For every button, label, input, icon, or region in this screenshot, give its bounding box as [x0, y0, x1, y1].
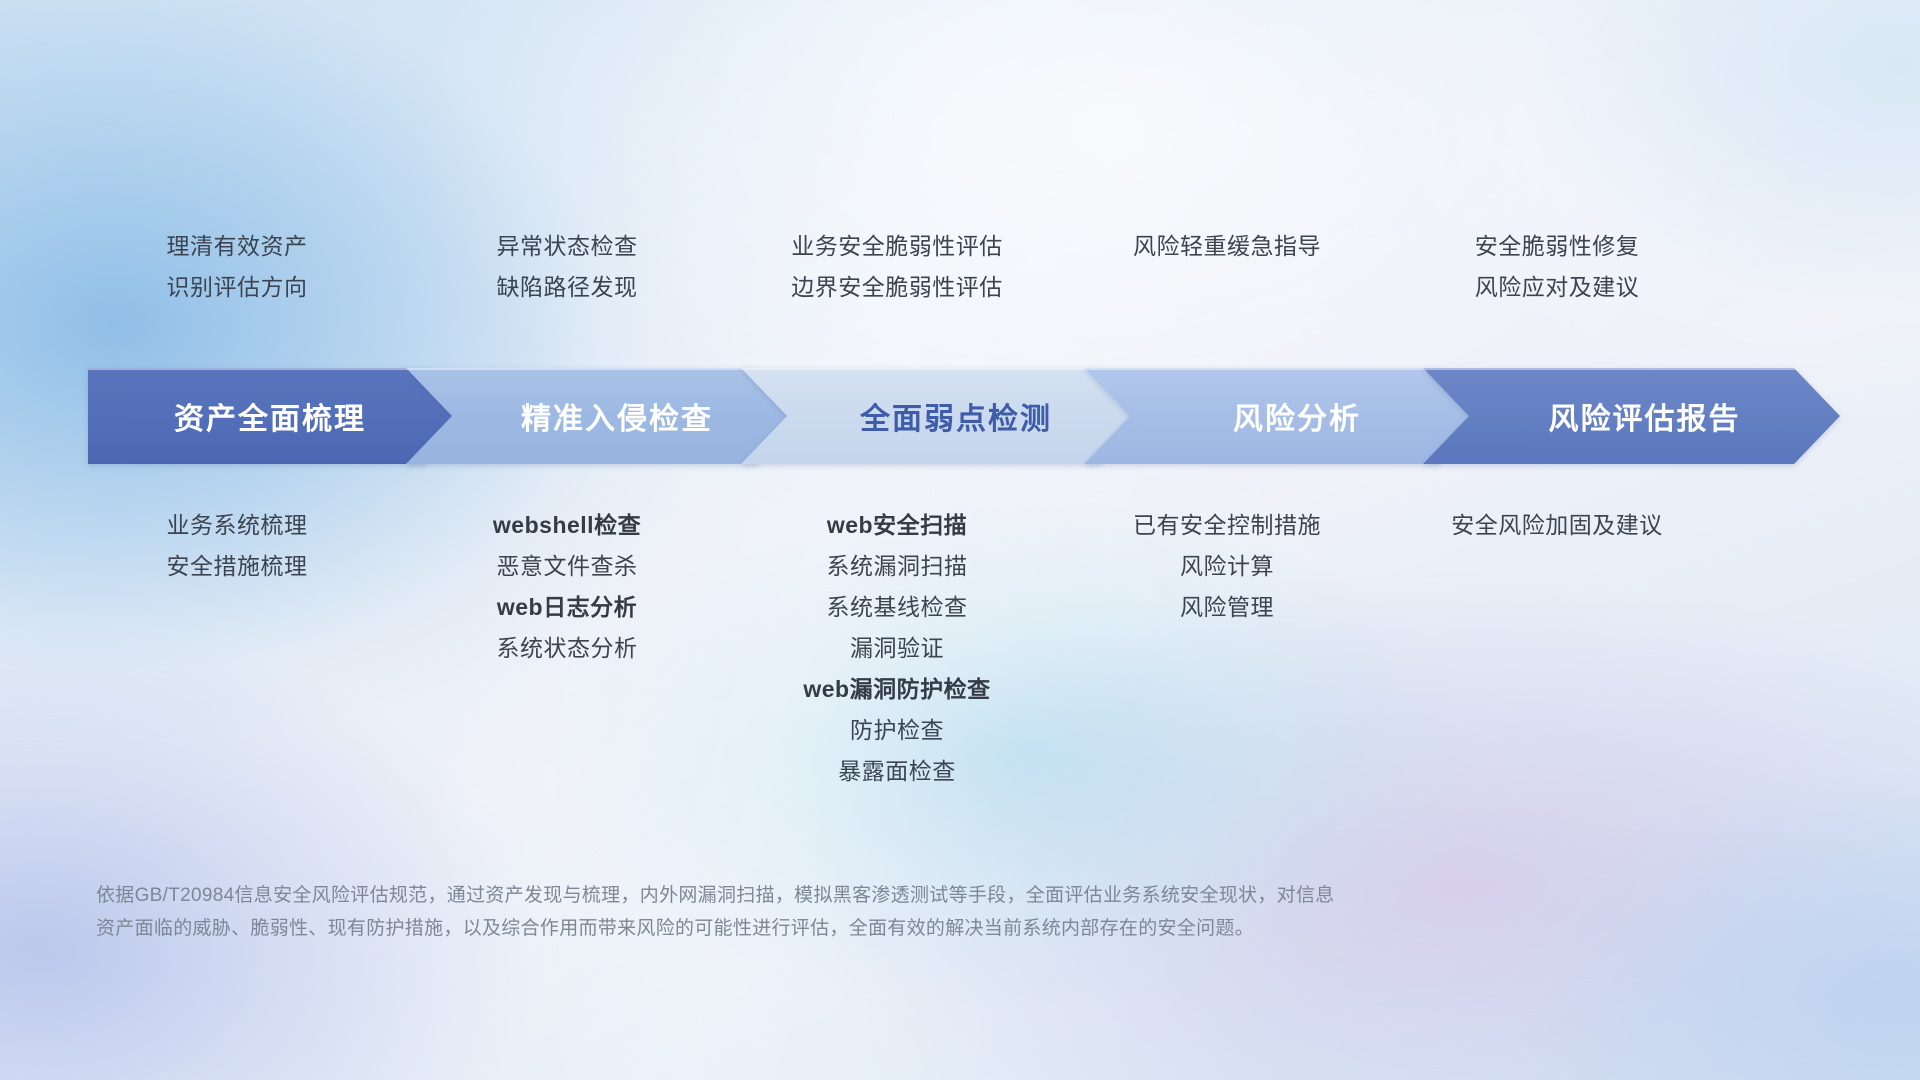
list-item: web安全扫描	[827, 505, 967, 546]
list-item: 风险计算	[1180, 546, 1274, 587]
list-item: 漏洞验证	[850, 628, 944, 669]
list-item: 边界安全脆弱性评估	[791, 267, 1003, 308]
list-item: 缺陷路径发现	[497, 267, 638, 308]
list-item: 防护检查	[850, 710, 944, 751]
process-step-label: 全面弱点检测	[834, 394, 1052, 438]
footer-line-2: 资产面临的威胁、脆弱性、现有防护措施，以及综合作用而带来风险的可能性进行评估，全…	[96, 913, 1636, 946]
list-item: 暴露面检查	[838, 751, 956, 792]
process-arrow-band: 资产全面梳理 精准入侵检查 全面弱点检测 风险分析 风险评估报告	[88, 368, 1840, 464]
list-item: web漏洞防护检查	[803, 669, 990, 710]
bottom-items-step-5: 安全风险加固及建议	[1392, 505, 1722, 546]
footer-line-1: 依据GB/T20984信息安全风险评估规范，通过资产发现与梳理，内外网漏洞扫描，…	[96, 880, 1636, 913]
list-item: webshell检查	[493, 505, 641, 546]
process-step-arrow-5[interactable]: 风险评估报告	[1423, 368, 1840, 464]
process-step-label: 风险分析	[1207, 394, 1361, 438]
top-items-row: 理清有效资产 识别评估方向 异常状态检查 缺陷路径发现 业务安全脆弱性评估 边界…	[0, 226, 1920, 346]
process-step-label: 资产全面梳理	[174, 394, 384, 438]
list-item: 异常状态检查	[497, 226, 638, 267]
diagram-canvas: 理清有效资产 识别评估方向 异常状态检查 缺陷路径发现 业务安全脆弱性评估 边界…	[0, 0, 1920, 1080]
bottom-items-row: 业务系统梳理 安全措施梳理 webshell检查 恶意文件查杀 web日志分析 …	[0, 505, 1920, 792]
bottom-items-step-1: 业务系统梳理 安全措施梳理	[72, 505, 402, 587]
top-items-step-3: 业务安全脆弱性评估 边界安全脆弱性评估	[732, 226, 1062, 346]
list-item: 理清有效资产	[167, 226, 308, 267]
process-step-label: 精准入侵检查	[495, 394, 713, 438]
list-item: 已有安全控制措施	[1133, 505, 1321, 546]
bottom-items-step-3: web安全扫描 系统漏洞扫描 系统基线检查 漏洞验证 web漏洞防护检查 防护检…	[732, 505, 1062, 792]
list-item: web日志分析	[497, 587, 637, 628]
top-items-step-4: 风险轻重缓急指导	[1062, 226, 1392, 346]
footer-description: 依据GB/T20984信息安全风险评估规范，通过资产发现与梳理，内外网漏洞扫描，…	[96, 880, 1636, 945]
list-item: 业务系统梳理	[167, 505, 308, 546]
top-items-step-1: 理清有效资产 识别评估方向	[72, 226, 402, 346]
bottom-items-step-4: 已有安全控制措施 风险计算 风险管理	[1062, 505, 1392, 628]
list-item: 系统漏洞扫描	[827, 546, 968, 587]
list-item: 风险管理	[1180, 587, 1274, 628]
list-item: 风险应对及建议	[1475, 267, 1640, 308]
top-items-step-5: 安全脆弱性修复 风险应对及建议	[1392, 226, 1722, 346]
list-item: 恶意文件查杀	[497, 546, 638, 587]
list-item: 安全脆弱性修复	[1475, 226, 1640, 267]
bottom-items-step-2: webshell检查 恶意文件查杀 web日志分析 系统状态分析	[402, 505, 732, 669]
list-item: 业务安全脆弱性评估	[791, 226, 1003, 267]
list-item: 安全措施梳理	[167, 546, 308, 587]
list-item: 系统状态分析	[497, 628, 638, 669]
top-items-step-2: 异常状态检查 缺陷路径发现	[402, 226, 732, 346]
list-item: 系统基线检查	[827, 587, 968, 628]
list-item: 识别评估方向	[167, 267, 308, 308]
list-item: 风险轻重缓急指导	[1133, 226, 1321, 267]
process-step-label: 风险评估报告	[1523, 394, 1741, 438]
list-item: 安全风险加固及建议	[1451, 505, 1663, 546]
